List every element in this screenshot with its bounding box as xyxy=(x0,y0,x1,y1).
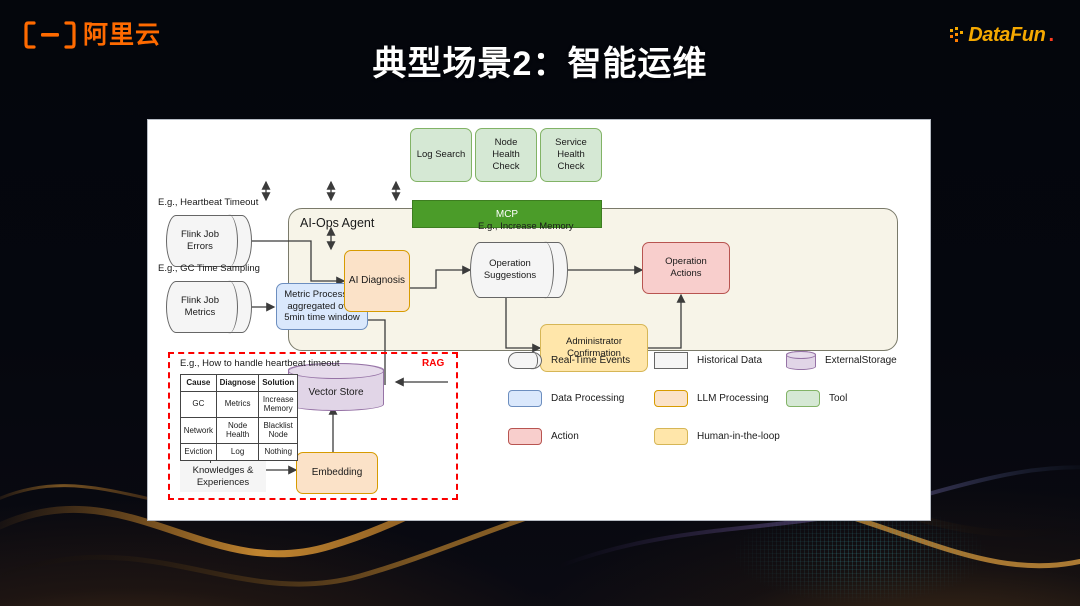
input-flink-job-errors-label: Flink Job Errors xyxy=(166,215,234,267)
tool-node-health-check[interactable]: Node Health Check xyxy=(475,128,537,182)
input-flink-job-metrics-label: Flink Job Metrics xyxy=(166,281,234,333)
table-header-row: Cause Diagnose Solution xyxy=(181,375,298,392)
table-header-diagnose: Diagnose xyxy=(216,375,259,392)
tool-node-health-check-label: Node Health Check xyxy=(492,137,519,173)
diagram-canvas: Log Search Node Health Check Service Hea… xyxy=(148,120,930,520)
table-row: Network Node Health Blacklist Node xyxy=(181,417,298,443)
table-cell: Blacklist Node xyxy=(259,417,298,443)
rag-caption: E.g., How to handle heartbeat timeout xyxy=(180,358,340,369)
legend-label: LLM Processing xyxy=(697,393,769,404)
operation-actions-node[interactable]: Operation Actions xyxy=(642,242,730,294)
legend-item-human-in-the-loop: Human-in-the-loop xyxy=(654,428,780,445)
ai-diagnosis-label: AI Diagnosis xyxy=(349,275,405,288)
legend-item-external-storage: ExternalStorage xyxy=(786,351,897,370)
table-header-cause: Cause xyxy=(181,375,217,392)
embedding-label: Embedding xyxy=(312,467,363,480)
table-row: GC Metrics Increase Memory xyxy=(181,391,298,417)
table-cell: GC xyxy=(181,391,217,417)
page-title: 典型场景2：智能运维 xyxy=(0,36,1080,85)
tool-swatch-icon xyxy=(786,390,820,407)
table-cell: Nothing xyxy=(259,443,298,460)
legend-item-llm-processing: LLM Processing xyxy=(654,390,769,407)
table-cell: Network xyxy=(181,417,217,443)
legend-item-data-processing: Data Processing xyxy=(508,390,624,407)
table-cell: Increase Memory xyxy=(259,391,298,417)
legend-label: Data Processing xyxy=(551,393,624,404)
ai-diagnosis-node[interactable]: AI Diagnosis xyxy=(344,250,410,312)
vector-store-node[interactable]: Vector Store xyxy=(288,363,384,411)
table-cell: Node Health xyxy=(216,417,259,443)
legend-label: ExternalStorage xyxy=(825,355,897,366)
tool-log-search[interactable]: Log Search xyxy=(410,128,472,182)
real-time-events-swatch-icon xyxy=(508,352,542,369)
embedding-node[interactable]: Embedding xyxy=(296,452,378,494)
tool-service-health-check[interactable]: Service Health Check xyxy=(540,128,602,182)
external-storage-swatch-icon xyxy=(786,351,816,370)
legend-item-real-time-events: Real-Time Events xyxy=(508,352,630,369)
historical-data-swatch-icon xyxy=(654,352,688,369)
caption-increase-memory: E.g., Increase Memory xyxy=(478,221,574,232)
table-cell: Eviction xyxy=(181,443,217,460)
legend-item-historical-data: Historical Data xyxy=(654,352,762,369)
input-flink-job-metrics[interactable]: Flink Job Metrics xyxy=(166,281,252,333)
legend-item-tool: Tool xyxy=(786,390,847,407)
operation-suggestions-node[interactable]: Operation Suggestions xyxy=(470,242,568,298)
table-cell: Log xyxy=(216,443,259,460)
legend-label: Historical Data xyxy=(697,355,762,366)
table-header-solution: Solution xyxy=(259,375,298,392)
vector-store-label: Vector Store xyxy=(288,373,384,411)
ai-ops-agent-label: AI-Ops Agent xyxy=(300,216,374,230)
rag-tag: RAG xyxy=(422,358,444,369)
caption-heartbeat-timeout: E.g., Heartbeat Timeout xyxy=(158,197,258,208)
table-cell: Metrics xyxy=(216,391,259,417)
legend-label: Real-Time Events xyxy=(551,355,630,366)
legend: Real-Time Events Historical Data Externa… xyxy=(508,352,928,462)
input-flink-job-errors[interactable]: Flink Job Errors xyxy=(166,215,252,267)
tool-service-health-check-label: Service Health Check xyxy=(555,137,587,173)
data-processing-swatch-icon xyxy=(508,390,542,407)
legend-label: Tool xyxy=(829,393,847,404)
legend-label: Action xyxy=(551,431,579,442)
llm-processing-swatch-icon xyxy=(654,390,688,407)
table-row: Eviction Log Nothing xyxy=(181,443,298,460)
legend-label: Human-in-the-loop xyxy=(697,431,780,442)
mcp-label: MCP xyxy=(496,209,518,220)
knowledge-table: Cause Diagnose Solution GC Metrics Incre… xyxy=(180,374,298,461)
human-in-the-loop-swatch-icon xyxy=(654,428,688,445)
operation-actions-label: Operation Actions xyxy=(665,256,707,280)
tool-log-search-label: Log Search xyxy=(417,149,466,161)
action-swatch-icon xyxy=(508,428,542,445)
caption-gc-time-sampling: E.g., GC Time Sampling xyxy=(158,263,260,274)
legend-item-action: Action xyxy=(508,428,579,445)
operation-suggestions-label: Operation Suggestions xyxy=(470,242,550,298)
